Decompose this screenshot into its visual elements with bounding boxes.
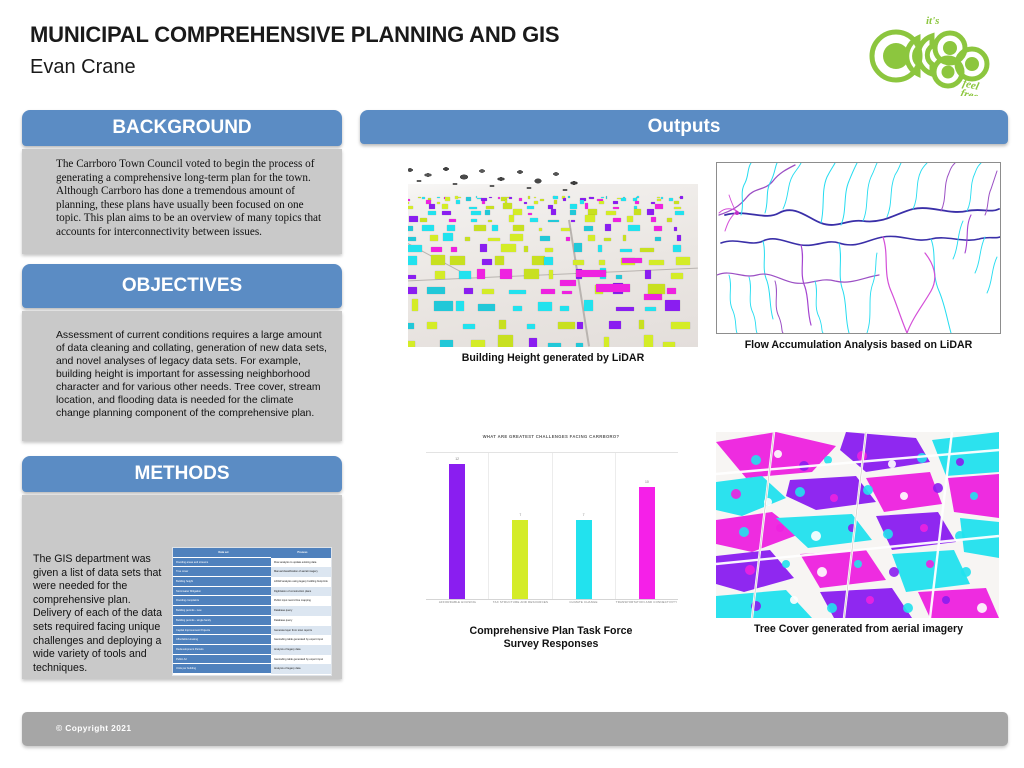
lidar-building: [548, 220, 559, 222]
lidar-building: [676, 257, 690, 264]
lidar-building: [663, 342, 676, 347]
background-text: The Carrboro Town Council voted to begin…: [22, 149, 342, 240]
lidar-building: [674, 201, 679, 204]
lidar-building: [443, 233, 453, 241]
lidar-building: [541, 289, 555, 294]
lidar-building: [482, 201, 484, 205]
lidar-building: [560, 306, 569, 310]
table-cell-process: Database query: [271, 616, 331, 626]
lidar-building: [529, 338, 537, 347]
table-cell-process: Database query: [271, 606, 331, 616]
lidar-building: [428, 211, 436, 215]
methods-text: The GIS department was given a list of d…: [33, 553, 168, 675]
lidar-building: [635, 201, 639, 204]
lidar-building: [580, 200, 584, 204]
lidar-building: [456, 200, 460, 204]
lidar-building: [539, 228, 543, 231]
lidar-building: [408, 199, 410, 201]
lidar-building: [486, 206, 494, 209]
table-cell-dataset: Flooding areas and streams: [173, 558, 271, 568]
table-row: Capital Improvement ProjectsGenerate lay…: [173, 626, 331, 636]
table-row: Tree coverManual classification of aeria…: [173, 567, 331, 577]
lidar-building: [674, 227, 678, 231]
lidar-building: [667, 288, 676, 294]
lidar-building: [609, 321, 621, 329]
lidar-building: [450, 256, 466, 265]
chart-bar-cell: 7: [552, 453, 615, 599]
table-cell-dataset: Building permits - single family: [173, 616, 271, 626]
lidar-building: [548, 343, 561, 347]
chart-bar: 12: [449, 464, 465, 599]
lidar-building: [408, 245, 422, 252]
lidar-building: [599, 201, 604, 204]
lidar-building: [524, 246, 528, 252]
lidar-building: [408, 341, 415, 347]
lidar-building: [673, 245, 681, 252]
lidar-building: [513, 209, 523, 215]
lidar-building: [540, 236, 549, 241]
methods-panel: METHODS The GIS department was given a l…: [22, 456, 342, 679]
lidar-building: [657, 197, 661, 198]
lidar-building: [524, 269, 539, 279]
figure-survey-chart: WHAT ARE GREATEST CHALLENGES FACING CARR…: [410, 430, 692, 651]
table-cell-dataset: Public Art: [173, 655, 271, 665]
objectives-text: Assessment of current conditions require…: [22, 311, 342, 420]
table-cell-dataset: Capital Improvement Projects: [173, 626, 271, 636]
lidar-building: [527, 206, 535, 209]
chart-bar-value: 7: [576, 513, 592, 517]
lidar-building: [620, 249, 632, 253]
table-cell-process: Manual classification of aerial imagery: [271, 567, 331, 577]
outputs-heading: Outputs: [360, 110, 1008, 144]
table-cell-process: Geocoding table generated by expert inpu…: [271, 655, 331, 665]
lidar-building: [588, 209, 598, 215]
logo-tagline-top: it's: [926, 15, 939, 27]
lidar-building: [613, 201, 618, 204]
chart-category-label: TRANSPORTATION AND CONNECTIVITY: [615, 600, 678, 604]
chart-category-labels: AFFORDABLE HOUSINGTAX STRUCTURE AND RESO…: [426, 600, 678, 604]
lidar-building: [466, 197, 472, 201]
objectives-heading: OBJECTIVES: [22, 264, 342, 308]
outputs-panel: Outputs Building Height generated by LiD…: [360, 110, 1008, 670]
lidar-building: [527, 324, 535, 328]
lidar-building: [509, 290, 527, 294]
lidar-building: [562, 291, 572, 294]
table-cell-process: Analysis of legacy data: [271, 645, 331, 655]
lidar-building: [599, 260, 605, 265]
lidar-building: [584, 300, 593, 311]
lidar-building: [408, 206, 413, 209]
lidar-building: [616, 275, 622, 279]
figure-building-height: Building Height generated by LiDAR: [408, 162, 698, 365]
table-header-row: Data set Process: [173, 548, 331, 558]
chart-bar: 7: [576, 520, 592, 599]
lidar-building: [651, 217, 656, 222]
lidar-building: [561, 228, 569, 231]
lidar-building: [665, 300, 680, 310]
lidar-building: [449, 219, 457, 222]
lidar-building: [408, 256, 417, 265]
table-cell-process: Analysis of legacy data: [271, 664, 331, 674]
lidar-building: [538, 302, 551, 311]
lidar-building: [621, 198, 626, 200]
methods-heading: METHODS: [22, 456, 342, 492]
flow-accumulation-image: [716, 162, 1001, 334]
lidar-building: [430, 235, 438, 241]
lidar-building: [606, 196, 607, 199]
figure-caption-survey-line1: Comprehensive Plan Task Force: [410, 625, 692, 638]
poster-header: MUNICIPAL COMPREHENSIVE PLANNING AND GIS…: [0, 0, 1024, 100]
lidar-building: [471, 211, 481, 215]
lidar-building: [674, 207, 682, 209]
table-row: Affordable HousingGeocoding table genera…: [173, 635, 331, 645]
chart-bar: 10: [639, 487, 655, 599]
lidar-building: [601, 197, 603, 199]
lidar-building: [501, 244, 516, 252]
lidar-building: [458, 197, 462, 198]
objectives-body: Assessment of current conditions require…: [22, 311, 342, 441]
lidar-building: [584, 226, 593, 230]
figure-caption-flow-accumulation: Flow Accumulation Analysis based on LiDA…: [716, 339, 1001, 352]
lidar-building: [451, 247, 457, 252]
lidar-building: [548, 205, 554, 209]
table-cell-dataset: Stormwater Mitigation: [173, 587, 271, 597]
chart-category-label: CLIMATE CHANGE: [552, 600, 615, 604]
chart-bar: 7: [512, 520, 528, 599]
lidar-building-large: [560, 280, 576, 286]
lidar-building: [640, 248, 654, 252]
chart-bar-cell: 10: [615, 453, 678, 599]
table-row: Stormwater MitigationDigitization of con…: [173, 587, 331, 597]
lidar-building: [437, 202, 440, 205]
lidar-building: [480, 244, 487, 252]
figure-flow-accumulation: Flow Accumulation Analysis based on LiDA…: [716, 162, 1001, 352]
lidar-building: [613, 207, 619, 209]
chart-bar-value: 7: [512, 513, 528, 517]
table-row: Public ArtGeocoding table generated by e…: [173, 655, 331, 665]
lidar-building: [671, 322, 690, 329]
lidar-building: [509, 197, 512, 199]
table-row: Flooding areas and streamsFlow analysis …: [173, 558, 331, 568]
methods-body: The GIS department was given a list of d…: [22, 495, 342, 679]
lidar-building: [488, 238, 500, 241]
lidar-building: [628, 225, 641, 231]
lidar-building: [437, 197, 441, 198]
lidar-building: [503, 203, 512, 208]
lidar-building: [589, 197, 594, 199]
lidar-building: [422, 197, 425, 199]
lidar-building: [500, 269, 512, 279]
table-row: Redevelopment ParcelsAnalysis of legacy …: [173, 645, 331, 655]
chart-bar-cell: 7: [488, 453, 551, 599]
chart-bar-value: 10: [639, 480, 655, 484]
page-title: MUNICIPAL COMPREHENSIVE PLANNING AND GIS: [30, 22, 559, 48]
figure-caption-building-height: Building Height generated by LiDAR: [408, 352, 698, 365]
table-cell-dataset: Redevelopment Parcels: [173, 645, 271, 655]
table-cell-dataset: Tree cover: [173, 567, 271, 577]
table-column-header-process: Process: [271, 548, 331, 558]
lidar-building: [455, 196, 458, 199]
table-column-header-dataset: Data set: [173, 548, 271, 558]
lidar-building: [408, 226, 413, 231]
poster-footer: © Copyright 2021: [22, 712, 1008, 746]
lidar-building: [429, 204, 435, 208]
objectives-panel: OBJECTIVES Assessment of current conditi…: [22, 264, 342, 441]
lidar-building: [447, 225, 456, 231]
lidar-building: [431, 247, 442, 252]
lidar-building: [418, 197, 420, 198]
chart-plot-area: 127710: [426, 452, 678, 600]
lidar-building: [616, 307, 635, 311]
lidar-building: [464, 288, 473, 294]
figure-caption-tree-cover: Tree Cover generated from aerial imagery: [716, 623, 1001, 636]
lidar-building: [528, 213, 532, 215]
lidar-building: [532, 256, 545, 265]
lidar-building: [634, 209, 642, 215]
lidar-building: [645, 307, 656, 311]
lidar-building: [606, 211, 616, 215]
lidar-building: [513, 306, 522, 311]
lidar-building: [654, 226, 662, 231]
lidar-building: [669, 198, 673, 201]
lidar-building: [566, 237, 570, 240]
lidar-building: [488, 220, 492, 222]
lidar-building: [585, 203, 588, 208]
lidar-building: [639, 320, 645, 329]
lidar-building: [465, 237, 470, 241]
lidar-building: [528, 196, 531, 199]
table-cell-process: Generate layer from town reports: [271, 626, 331, 636]
table-cell-dataset: Units per building: [173, 664, 271, 674]
copyright-text: © Copyright 2021: [56, 723, 131, 733]
lidar-building: [482, 289, 494, 294]
background-panel: BACKGROUND The Carrboro Town Council vot…: [22, 110, 342, 254]
lidar-building: [534, 201, 539, 204]
lidar-building: [435, 271, 446, 279]
lidar-building-large: [596, 284, 630, 292]
lidar-building: [657, 199, 662, 201]
lidar-building: [431, 255, 445, 265]
lidar-building: [498, 197, 500, 198]
lidar-building: [442, 204, 448, 208]
background-body: The Carrboro Town Council voted to begin…: [22, 149, 342, 254]
lidar-building: [409, 216, 418, 222]
lidar-building: [442, 211, 451, 215]
lidar-building: [434, 301, 454, 311]
figure-caption-survey-line2: Survey Responses: [410, 638, 692, 651]
lidar-building: [498, 335, 513, 347]
lidar-building: [648, 284, 666, 294]
lidar-building: [554, 200, 556, 204]
lidar-building: [551, 209, 556, 215]
table-cell-process: Geocoding table generated by expert inpu…: [271, 635, 331, 645]
lidar-building: [534, 197, 537, 199]
lidar-building: [510, 234, 523, 240]
lidar-building: [459, 271, 472, 279]
lidar-building: [588, 235, 595, 241]
lidar-building: [605, 224, 610, 231]
lidar-building: [492, 225, 498, 230]
table-row: Flooding complaintsPublic input record l…: [173, 596, 331, 606]
lidar-building: [675, 211, 684, 215]
chart-category-label: AFFORDABLE HOUSING: [426, 600, 489, 604]
table-cell-dataset: Affordable Housing: [173, 635, 271, 645]
lidar-building: [649, 260, 664, 265]
table-cell-process: Digitization of construction plans: [271, 587, 331, 597]
lidar-building: [408, 237, 416, 241]
lidar-building: [474, 225, 486, 231]
lidar-building: [637, 196, 639, 198]
chart-bar-cell: 12: [426, 453, 488, 599]
table-cell-dataset: Building permits - new: [173, 606, 271, 616]
chart-bar-value: 12: [449, 457, 465, 461]
author-name: Evan Crane: [30, 56, 136, 79]
lidar-building: [613, 218, 621, 223]
lidar-building: [571, 220, 574, 222]
table-cell-process: LiDAR analysis using legacy building foo…: [271, 577, 331, 587]
lidar-building: [645, 270, 651, 278]
lidar-building: [644, 335, 653, 347]
figure-tree-cover: Tree Cover generated from aerial imagery: [716, 432, 1001, 636]
lidar-building: [427, 322, 437, 329]
lidar-building: [667, 218, 671, 222]
table-body: Flooding areas and streamsFlow analysis …: [173, 558, 331, 674]
lidar-building: [558, 322, 576, 329]
lidar-building: [680, 196, 683, 199]
table-cell-process: Flow analysis to update existing data: [271, 558, 331, 568]
lidar-building: [627, 216, 632, 222]
lidar-building: [623, 235, 627, 241]
lidar-building: [408, 202, 409, 204]
lidar-building: [573, 260, 585, 265]
lidar-building: [563, 198, 566, 200]
building-height-lidar-image: [408, 162, 698, 347]
lidar-building: [577, 322, 584, 329]
lidar-building-large: [576, 270, 606, 277]
lidar-building: [471, 219, 477, 222]
table-row: Building permits - newDatabase query: [173, 606, 331, 616]
lidar-building: [509, 215, 514, 222]
lidar-building: [545, 248, 553, 252]
lidar-building: [463, 324, 475, 329]
lidar-building: [524, 202, 527, 204]
table-cell-dataset: Building height: [173, 577, 271, 587]
lidar-building: [530, 218, 538, 222]
lidar-building: [469, 207, 478, 209]
lidar-building: [440, 340, 454, 347]
carrboro-logo: it's feel free: [866, 8, 996, 96]
lidar-building: [478, 304, 496, 311]
methods-data-table: Data set Process Flooding areas and stre…: [172, 547, 332, 676]
lidar-building: [412, 299, 418, 310]
lidar-building: [655, 237, 661, 241]
chart-category-label: TAX STRUCTURE AND RESOURCES: [489, 600, 552, 604]
lidar-building-large: [622, 258, 642, 263]
lidar-building: [576, 343, 583, 347]
lidar-building: [456, 301, 464, 311]
lidar-building: [471, 340, 485, 347]
tree-cover-image: [716, 432, 999, 618]
survey-bar-chart: WHAT ARE GREATEST CHALLENGES FACING CARR…: [410, 430, 692, 620]
lidar-building: [519, 198, 522, 200]
lidar-building: [422, 225, 434, 230]
lidar-building: [408, 323, 414, 329]
lidar-building: [499, 320, 506, 328]
lidar-building: [604, 238, 611, 241]
lidar-building: [604, 337, 610, 347]
lidar-building: [655, 204, 663, 208]
lidar-building: [570, 210, 576, 214]
table-row: Units per buildingAnalysis of legacy dat…: [173, 664, 331, 674]
lidar-building: [495, 256, 505, 265]
lidar-building: [544, 257, 553, 264]
lidar-building: [482, 259, 492, 264]
lidar-building: [598, 245, 602, 252]
lidar-building: [647, 209, 654, 215]
lidar-building: [408, 287, 417, 294]
lidar-building: [477, 269, 484, 279]
table-cell-dataset: Flooding complaints: [173, 596, 271, 606]
lidar-building: [633, 198, 637, 200]
lidar-building: [513, 225, 525, 231]
lidar-building: [427, 287, 445, 294]
table-row: Building heightLiDAR analysis using lega…: [173, 577, 331, 587]
table-cell-process: Public input record line mapping: [271, 596, 331, 606]
chart-title: WHAT ARE GREATEST CHALLENGES FACING CARR…: [410, 434, 692, 439]
lidar-building-large: [644, 294, 662, 300]
lidar-building: [549, 270, 554, 279]
lidar-building: [671, 273, 683, 279]
lidar-building: [570, 204, 578, 209]
lidar-building: [445, 197, 450, 200]
lidar-building: [677, 235, 681, 241]
lidar-building: [553, 196, 558, 199]
background-heading: BACKGROUND: [22, 110, 342, 146]
lidar-building: [408, 275, 416, 279]
lidar-building: [585, 215, 595, 222]
lidar-building: [485, 210, 491, 214]
lidar-building: [420, 218, 428, 222]
lidar-building: [574, 243, 583, 252]
table-row: Building permits - single familyDatabase…: [173, 616, 331, 626]
lidar-building: [540, 199, 545, 201]
